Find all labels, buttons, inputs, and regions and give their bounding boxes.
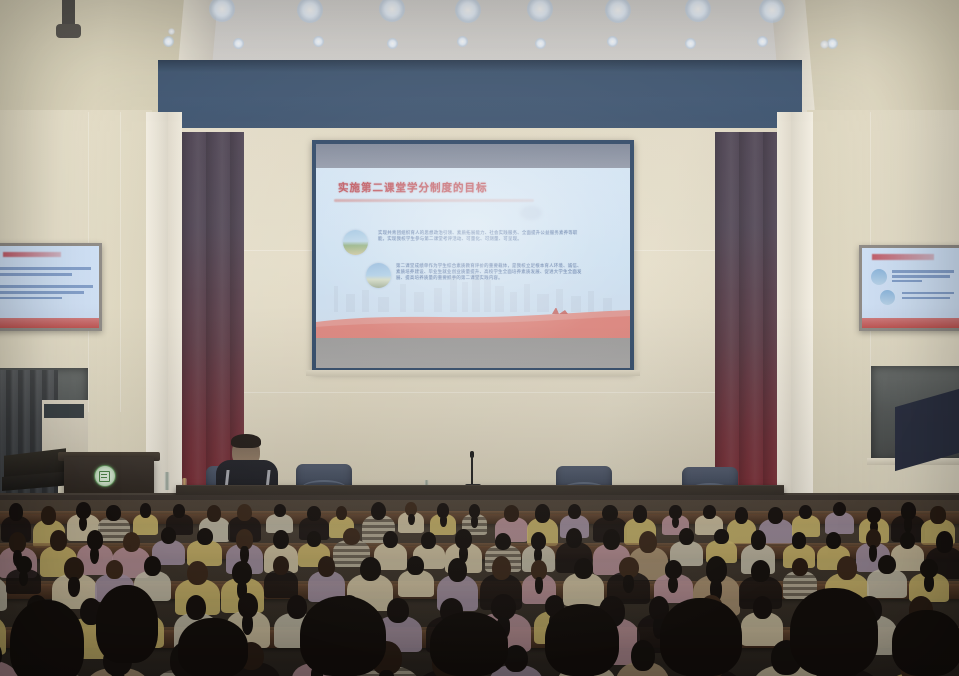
light-icon	[168, 28, 175, 35]
audience-member-head	[735, 507, 748, 524]
audience-member-head	[495, 533, 511, 551]
audience-member-head	[307, 506, 321, 521]
audience-member-hair	[19, 571, 28, 586]
audience-member-head	[207, 505, 221, 522]
slide-watermark	[520, 206, 542, 220]
audience-member-head	[631, 640, 655, 671]
mini-slide-title	[3, 252, 60, 258]
audience-member-head	[660, 598, 742, 676]
mini-slide-line	[892, 280, 922, 282]
slide-title: 实施第二课堂学分制度的目标	[338, 180, 488, 195]
wall-seam	[120, 112, 121, 412]
audience-member-head	[144, 556, 161, 576]
audience-member-head	[714, 529, 728, 544]
red-wave-graphic	[316, 308, 630, 338]
audience-member-head	[936, 531, 953, 552]
audience-member-head	[387, 598, 409, 622]
mini-slide-line	[0, 285, 93, 287]
audience-member-head	[603, 529, 620, 550]
audience-member-head	[9, 503, 23, 521]
audience-member-head	[197, 528, 213, 545]
audience-member-head	[566, 528, 582, 548]
audience-member-head	[274, 504, 286, 517]
audience-member-head	[833, 502, 846, 517]
mini-red-wave	[0, 318, 99, 328]
audience-member-head	[504, 505, 519, 521]
audience-member-head	[371, 502, 386, 521]
projector-icon	[56, 24, 81, 38]
audience-member-head	[178, 618, 248, 676]
audience-member-head	[421, 532, 436, 549]
audience-member-head	[407, 556, 423, 574]
audience-member-head	[307, 531, 322, 547]
light-icon	[820, 40, 829, 49]
audience-member-head	[790, 588, 878, 676]
audience-member-head	[633, 505, 648, 523]
stage-curtain-right	[715, 132, 777, 512]
audience-member-head	[96, 585, 158, 663]
mini-thumbnail	[880, 290, 895, 305]
slide-thumbnail-1	[343, 230, 368, 255]
light-icon	[607, 36, 618, 47]
bench-rail	[0, 543, 959, 548]
light-icon	[457, 36, 468, 47]
mini-slide-line	[0, 267, 91, 269]
audience-member-head	[287, 595, 307, 619]
audience-member-hair	[623, 575, 634, 593]
audience-member-head	[383, 531, 398, 549]
audience-member-hair	[924, 575, 934, 592]
audience-member-head	[878, 555, 896, 574]
light-icon	[757, 36, 768, 47]
mini-red-wave	[862, 318, 959, 328]
audience-member-head	[10, 600, 84, 676]
mini-slide-line	[892, 270, 954, 272]
audience-member-head	[186, 595, 206, 620]
audience-member-head	[930, 506, 945, 523]
audience-member-head	[237, 504, 252, 521]
auditorium-scene: 实施第二课堂学分制度的目标 实现共青团组织育人的思想政治引领、素质拓展能力、社会…	[0, 0, 959, 676]
audience-member-head	[751, 530, 766, 550]
light-icon	[535, 38, 546, 49]
wall-monitor-left	[0, 243, 102, 331]
curtain-folds	[715, 132, 777, 512]
audience-member-hair	[68, 577, 79, 597]
audience-member-hair	[408, 514, 414, 526]
audience-member-hair	[535, 577, 544, 594]
audience-member-head	[273, 556, 288, 575]
audience-member-head	[140, 503, 152, 517]
audience-member-head	[343, 528, 359, 546]
audience-member-head	[41, 506, 56, 525]
monitor-icon	[862, 248, 959, 328]
mini-thumbnail	[871, 269, 887, 285]
mini-slide-line	[902, 292, 954, 294]
light-icon	[313, 36, 324, 47]
slide-paragraph-2: 第二课堂成绩单作为学生综合素质教育评价的重要载体，是我校立足根本育人环境、诚信、…	[396, 263, 586, 282]
blue-band-shadow	[158, 60, 802, 72]
audience-member-hair	[471, 516, 477, 528]
screen-base-ledge	[306, 370, 640, 376]
mini-slide-title	[872, 254, 934, 260]
audience-member-head	[448, 558, 467, 582]
microphone-stem	[471, 455, 473, 485]
audience-member-hair	[440, 515, 446, 527]
light-icon	[233, 38, 244, 49]
wall-seam	[150, 392, 810, 393]
audience-member-head	[768, 507, 783, 524]
audience-member-head	[300, 596, 386, 676]
projection-screen-surface: 实施第二课堂学分制度的目标 实现共青团组织育人的思想政治引领、素质拓展能力、社会…	[316, 144, 630, 368]
audience-member-hair	[869, 545, 877, 561]
mini-slide-line	[902, 297, 950, 299]
audience-member-head	[106, 560, 123, 579]
audience-member-head	[492, 556, 511, 580]
audience-member-head	[545, 604, 619, 676]
audience-member-head	[639, 531, 657, 553]
audience-member-head	[123, 532, 140, 553]
slide-title-underline	[334, 199, 534, 202]
audience-member-head	[568, 504, 581, 519]
light-icon	[685, 38, 696, 49]
screen-top-band	[316, 144, 630, 168]
slide-thumbnail-2	[366, 263, 391, 288]
audience-member-head	[187, 561, 208, 585]
monitor-icon	[0, 246, 99, 328]
audience-member-head	[602, 505, 617, 522]
mini-slide-line	[0, 273, 72, 275]
mini-slide-line	[892, 275, 950, 277]
audience-member-head	[792, 532, 807, 548]
audience-member-head	[574, 558, 593, 580]
light-icon	[387, 38, 398, 49]
audience-member-head	[826, 532, 841, 549]
light-icon	[163, 36, 174, 47]
audience-area	[0, 500, 959, 676]
audience-member-head	[751, 560, 770, 582]
audience-member-head	[679, 528, 694, 545]
audience-member-head	[703, 505, 716, 518]
audience-member-head	[106, 505, 120, 521]
audience-member-head	[753, 596, 772, 619]
audience-member-head	[892, 610, 959, 676]
audience-member-head	[900, 532, 915, 550]
audience-member-head	[535, 504, 549, 523]
audience-member-head	[318, 556, 335, 577]
left-pilaster-inner	[168, 112, 182, 520]
crest-icon	[94, 465, 116, 487]
speaker-hair	[231, 434, 261, 448]
projection-screen: 实施第二课堂学分制度的目标 实现共青团组织育人的思想政治引领、素质拓展能力、社会…	[312, 140, 634, 372]
audience-member-head	[837, 556, 857, 579]
water-bottle	[164, 472, 170, 490]
wall-monitor-right	[859, 245, 959, 331]
audience-member-head	[430, 612, 508, 676]
audience-member-head	[50, 530, 67, 551]
audience-member-hair	[672, 517, 679, 529]
audience-member-head	[360, 557, 381, 581]
presentation-slide: 实施第二课堂学分制度的目标 实现共青团组织育人的思想政治引领、素质拓展能力、社会…	[316, 168, 630, 338]
audience-member-head	[273, 530, 289, 550]
mini-slide-line	[0, 291, 84, 293]
audience-member-head	[161, 527, 176, 544]
slide-paragraph-1: 实现共青团组织育人的思想政治引领、素质拓展能力、社会实践服务、全面提升公益服务素…	[378, 230, 586, 242]
mini-slide-line	[0, 297, 62, 299]
audience-member-head	[792, 558, 807, 576]
right-pilaster-inner	[777, 112, 791, 520]
screen-bottom-band	[316, 338, 630, 368]
cabinet-vent	[44, 404, 84, 418]
